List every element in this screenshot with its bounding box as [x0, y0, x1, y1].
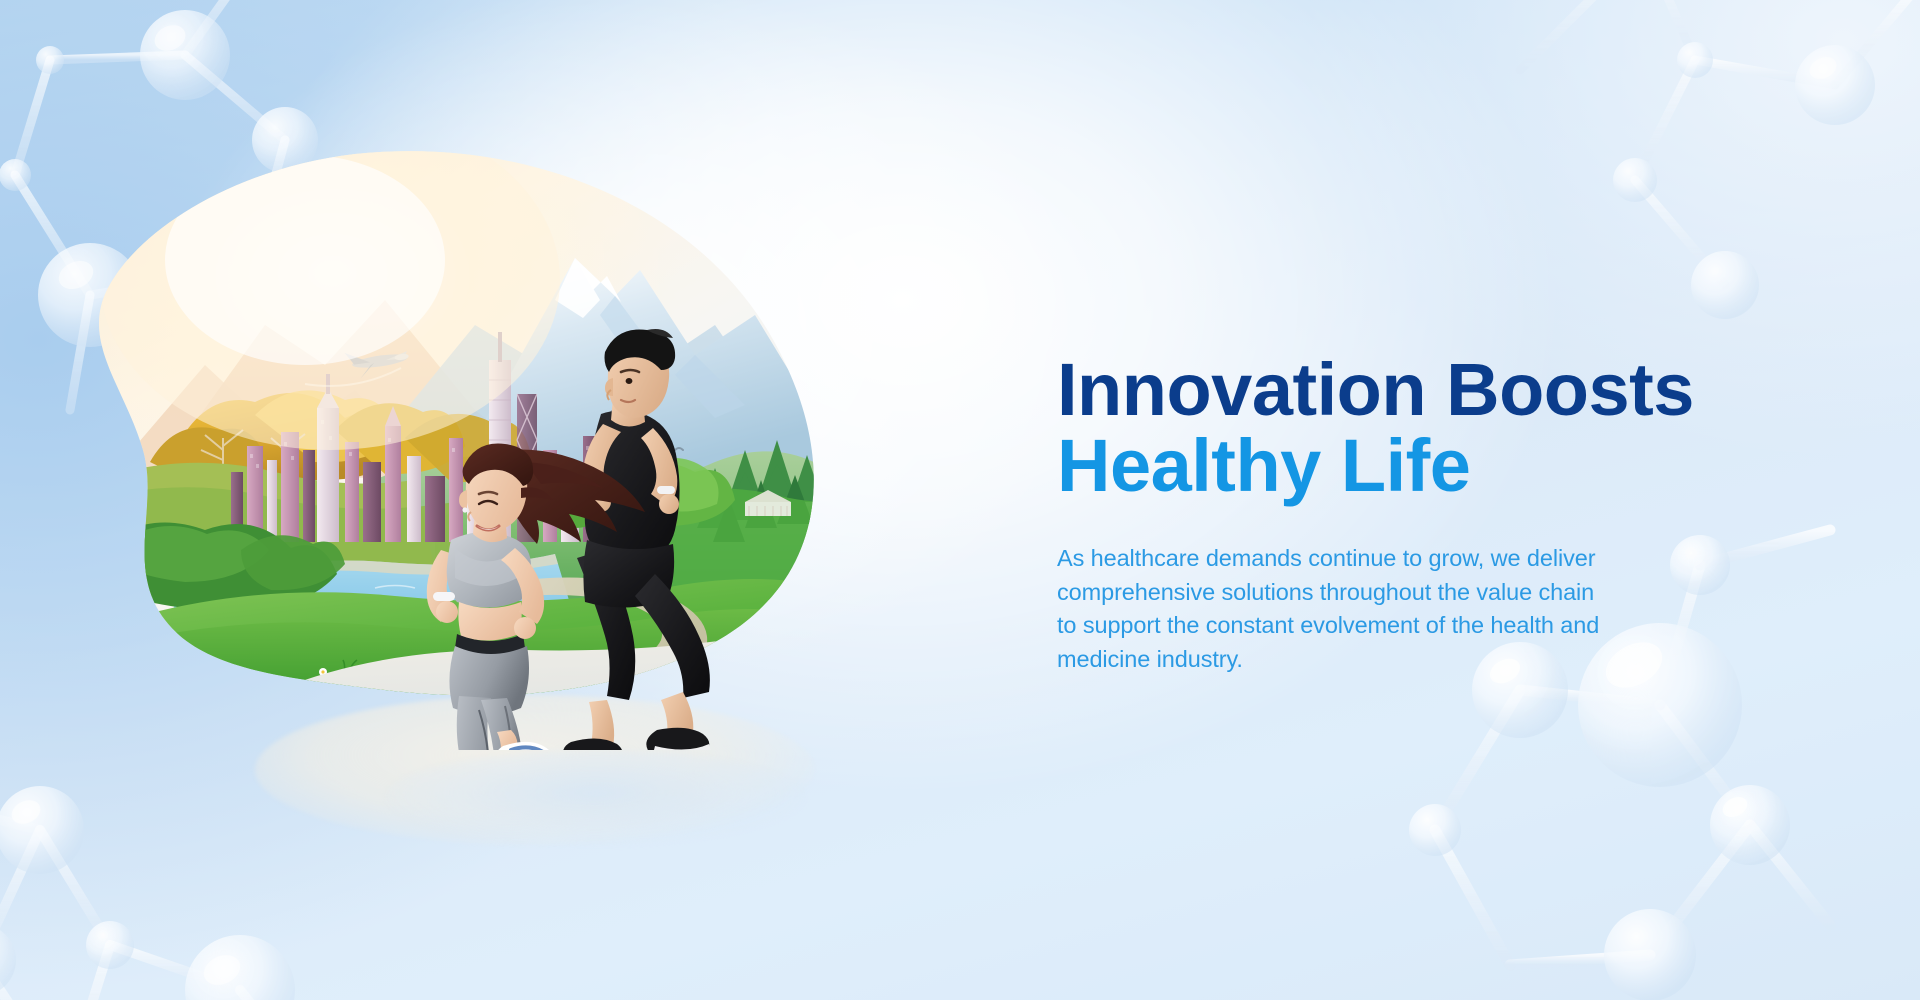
hero-copy: Innovation Boosts Healthy Life As health…	[1057, 352, 1757, 676]
male-runner	[563, 329, 711, 750]
headline-line-2: Healthy Life	[1057, 428, 1757, 504]
page-title: Innovation Boosts Healthy Life	[1057, 352, 1757, 504]
hero-banner: Innovation Boosts Healthy Life As health…	[0, 0, 1920, 1000]
ground-shadow-cool	[385, 750, 805, 845]
runners-group	[55, 150, 825, 750]
headline-line-1: Innovation Boosts	[1057, 352, 1757, 428]
hero-description: As healthcare demands continue to grow, …	[1057, 542, 1602, 675]
hero-illustration	[55, 150, 825, 710]
